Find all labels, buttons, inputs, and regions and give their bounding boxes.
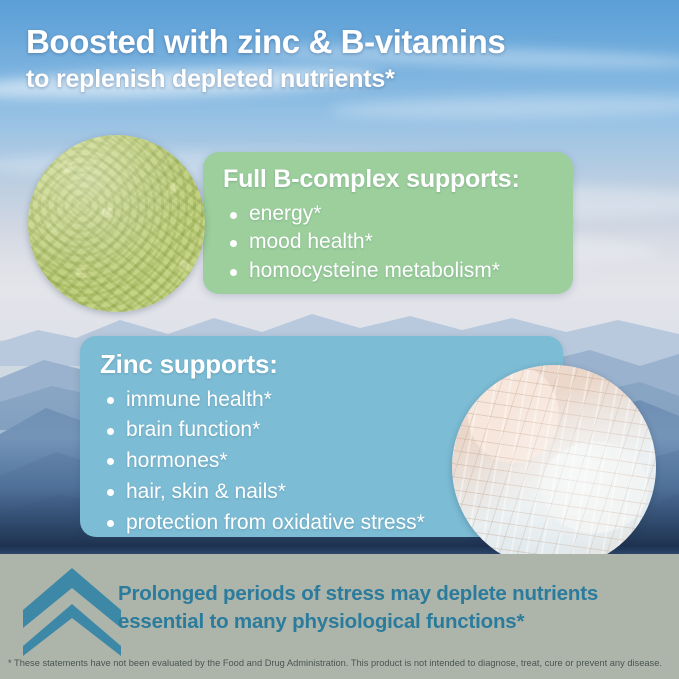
list-item-label: homocysteine metabolism* (249, 259, 500, 282)
list-item-label: energy* (249, 202, 321, 225)
footer-message-line-1: Prolonged periods of stress may deplete … (118, 580, 670, 608)
list-item: homocysteine metabolism* (223, 257, 555, 286)
cloud-wisp (330, 93, 679, 122)
list-item-label: hair, skin & nails* (126, 480, 286, 503)
headline-line-2: to replenish depleted nutrients* (26, 64, 656, 94)
headline-line-1: Boosted with zinc & B-vitamins (26, 24, 656, 61)
bullet-dot-icon (107, 458, 114, 465)
footer-message: Prolonged periods of stress may deplete … (118, 580, 670, 637)
list-item-label: immune health* (126, 388, 272, 411)
bullet-dot-icon (107, 520, 114, 527)
list-item: mood health* (223, 228, 555, 257)
footer-banner: Prolonged periods of stress may deplete … (0, 554, 679, 679)
bullet-dot-icon (107, 397, 114, 404)
infographic-poster: Boosted with zinc & B-vitamins to replen… (0, 0, 679, 679)
b-complex-panel: Full B-complex supports: energy* mood he… (203, 152, 573, 294)
bullet-dot-icon (230, 212, 237, 219)
pumpkin-seeds-image (28, 135, 205, 312)
bullet-dot-icon (230, 240, 237, 247)
skin-highlight (452, 365, 656, 569)
b-complex-bullet-list: energy* mood health* homocysteine metabo… (223, 200, 555, 286)
bullet-dot-icon (230, 269, 237, 276)
skin-texture-image (452, 365, 656, 569)
footer-message-line-2: essential to many physiological function… (118, 608, 670, 636)
bullet-dot-icon (107, 489, 114, 496)
list-item-label: mood health* (249, 230, 373, 253)
list-item-label: brain function* (126, 418, 260, 441)
b-complex-panel-title: Full B-complex supports: (223, 166, 555, 194)
list-item-label: protection from oxidative stress* (126, 511, 425, 534)
fda-disclaimer: * These statements have not been evaluat… (8, 658, 676, 669)
bullet-dot-icon (107, 428, 114, 435)
list-item-label: hormones* (126, 449, 228, 472)
headline: Boosted with zinc & B-vitamins to replen… (26, 24, 656, 94)
double-chevron-up-icon (20, 566, 124, 658)
seeds-highlight (28, 135, 205, 312)
list-item: energy* (223, 200, 555, 229)
